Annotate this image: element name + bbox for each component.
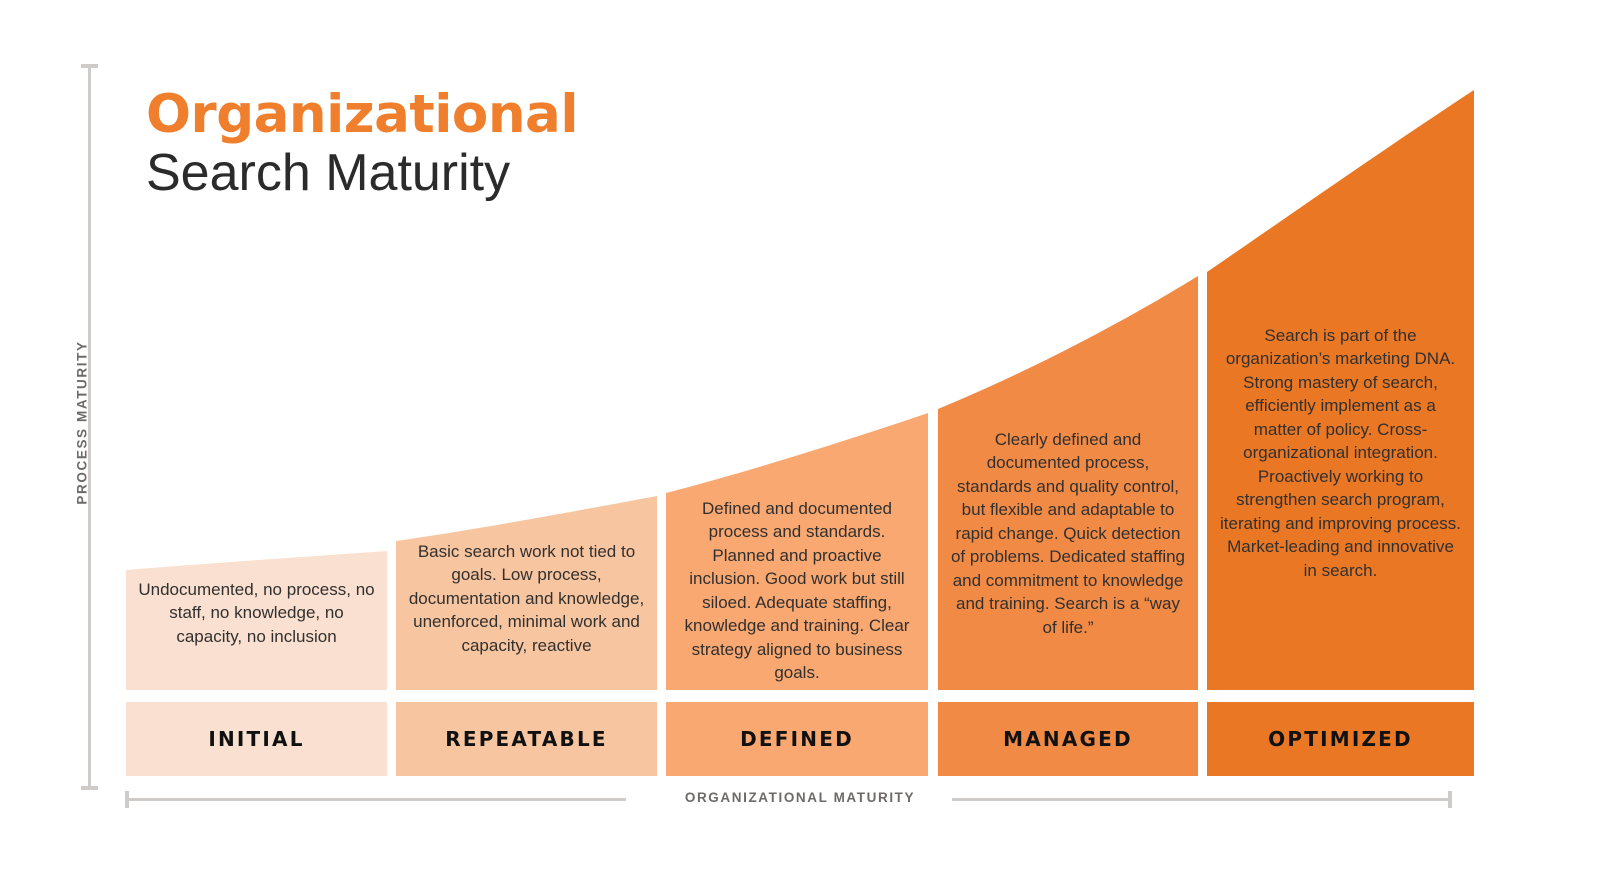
infographic-canvas: Organizational Search Maturity PROCESS M… xyxy=(0,0,1600,870)
title-line-secondary: Search Maturity xyxy=(146,147,846,199)
stage-description-initial: Undocumented, no process, no staff, no k… xyxy=(126,578,387,648)
stage-box-initial[interactable]: INITIAL xyxy=(126,702,387,776)
stage-description-defined: Defined and documented process and stand… xyxy=(666,497,928,685)
stage-label-optimized: OPTIMIZED xyxy=(1268,727,1413,751)
y-axis-label: PROCESS MATURITY xyxy=(75,313,90,533)
stage-description-repeatable: Basic search work not tied to goals. Low… xyxy=(396,540,657,657)
stage-label-managed: MANAGED xyxy=(1003,727,1133,751)
stage-label-repeatable: REPEATABLE xyxy=(445,727,608,751)
stage-description-managed: Clearly defined and documented process, … xyxy=(938,428,1198,639)
stage-box-repeatable[interactable]: REPEATABLE xyxy=(396,702,657,776)
stage-label-initial: INITIAL xyxy=(208,727,304,751)
page-title: Organizational Search Maturity xyxy=(146,88,846,199)
title-line-primary: Organizational xyxy=(146,88,846,141)
stage-box-optimized[interactable]: OPTIMIZED xyxy=(1207,702,1474,776)
x-axis-label: ORGANIZATIONAL MATURITY xyxy=(0,790,1600,805)
y-axis-top-tick xyxy=(81,64,98,68)
stage-description-optimized: Search is part of the organization’s mar… xyxy=(1207,324,1474,582)
stage-box-defined[interactable]: DEFINED xyxy=(666,702,928,776)
stage-box-managed[interactable]: MANAGED xyxy=(938,702,1198,776)
stage-label-defined: DEFINED xyxy=(740,727,854,751)
